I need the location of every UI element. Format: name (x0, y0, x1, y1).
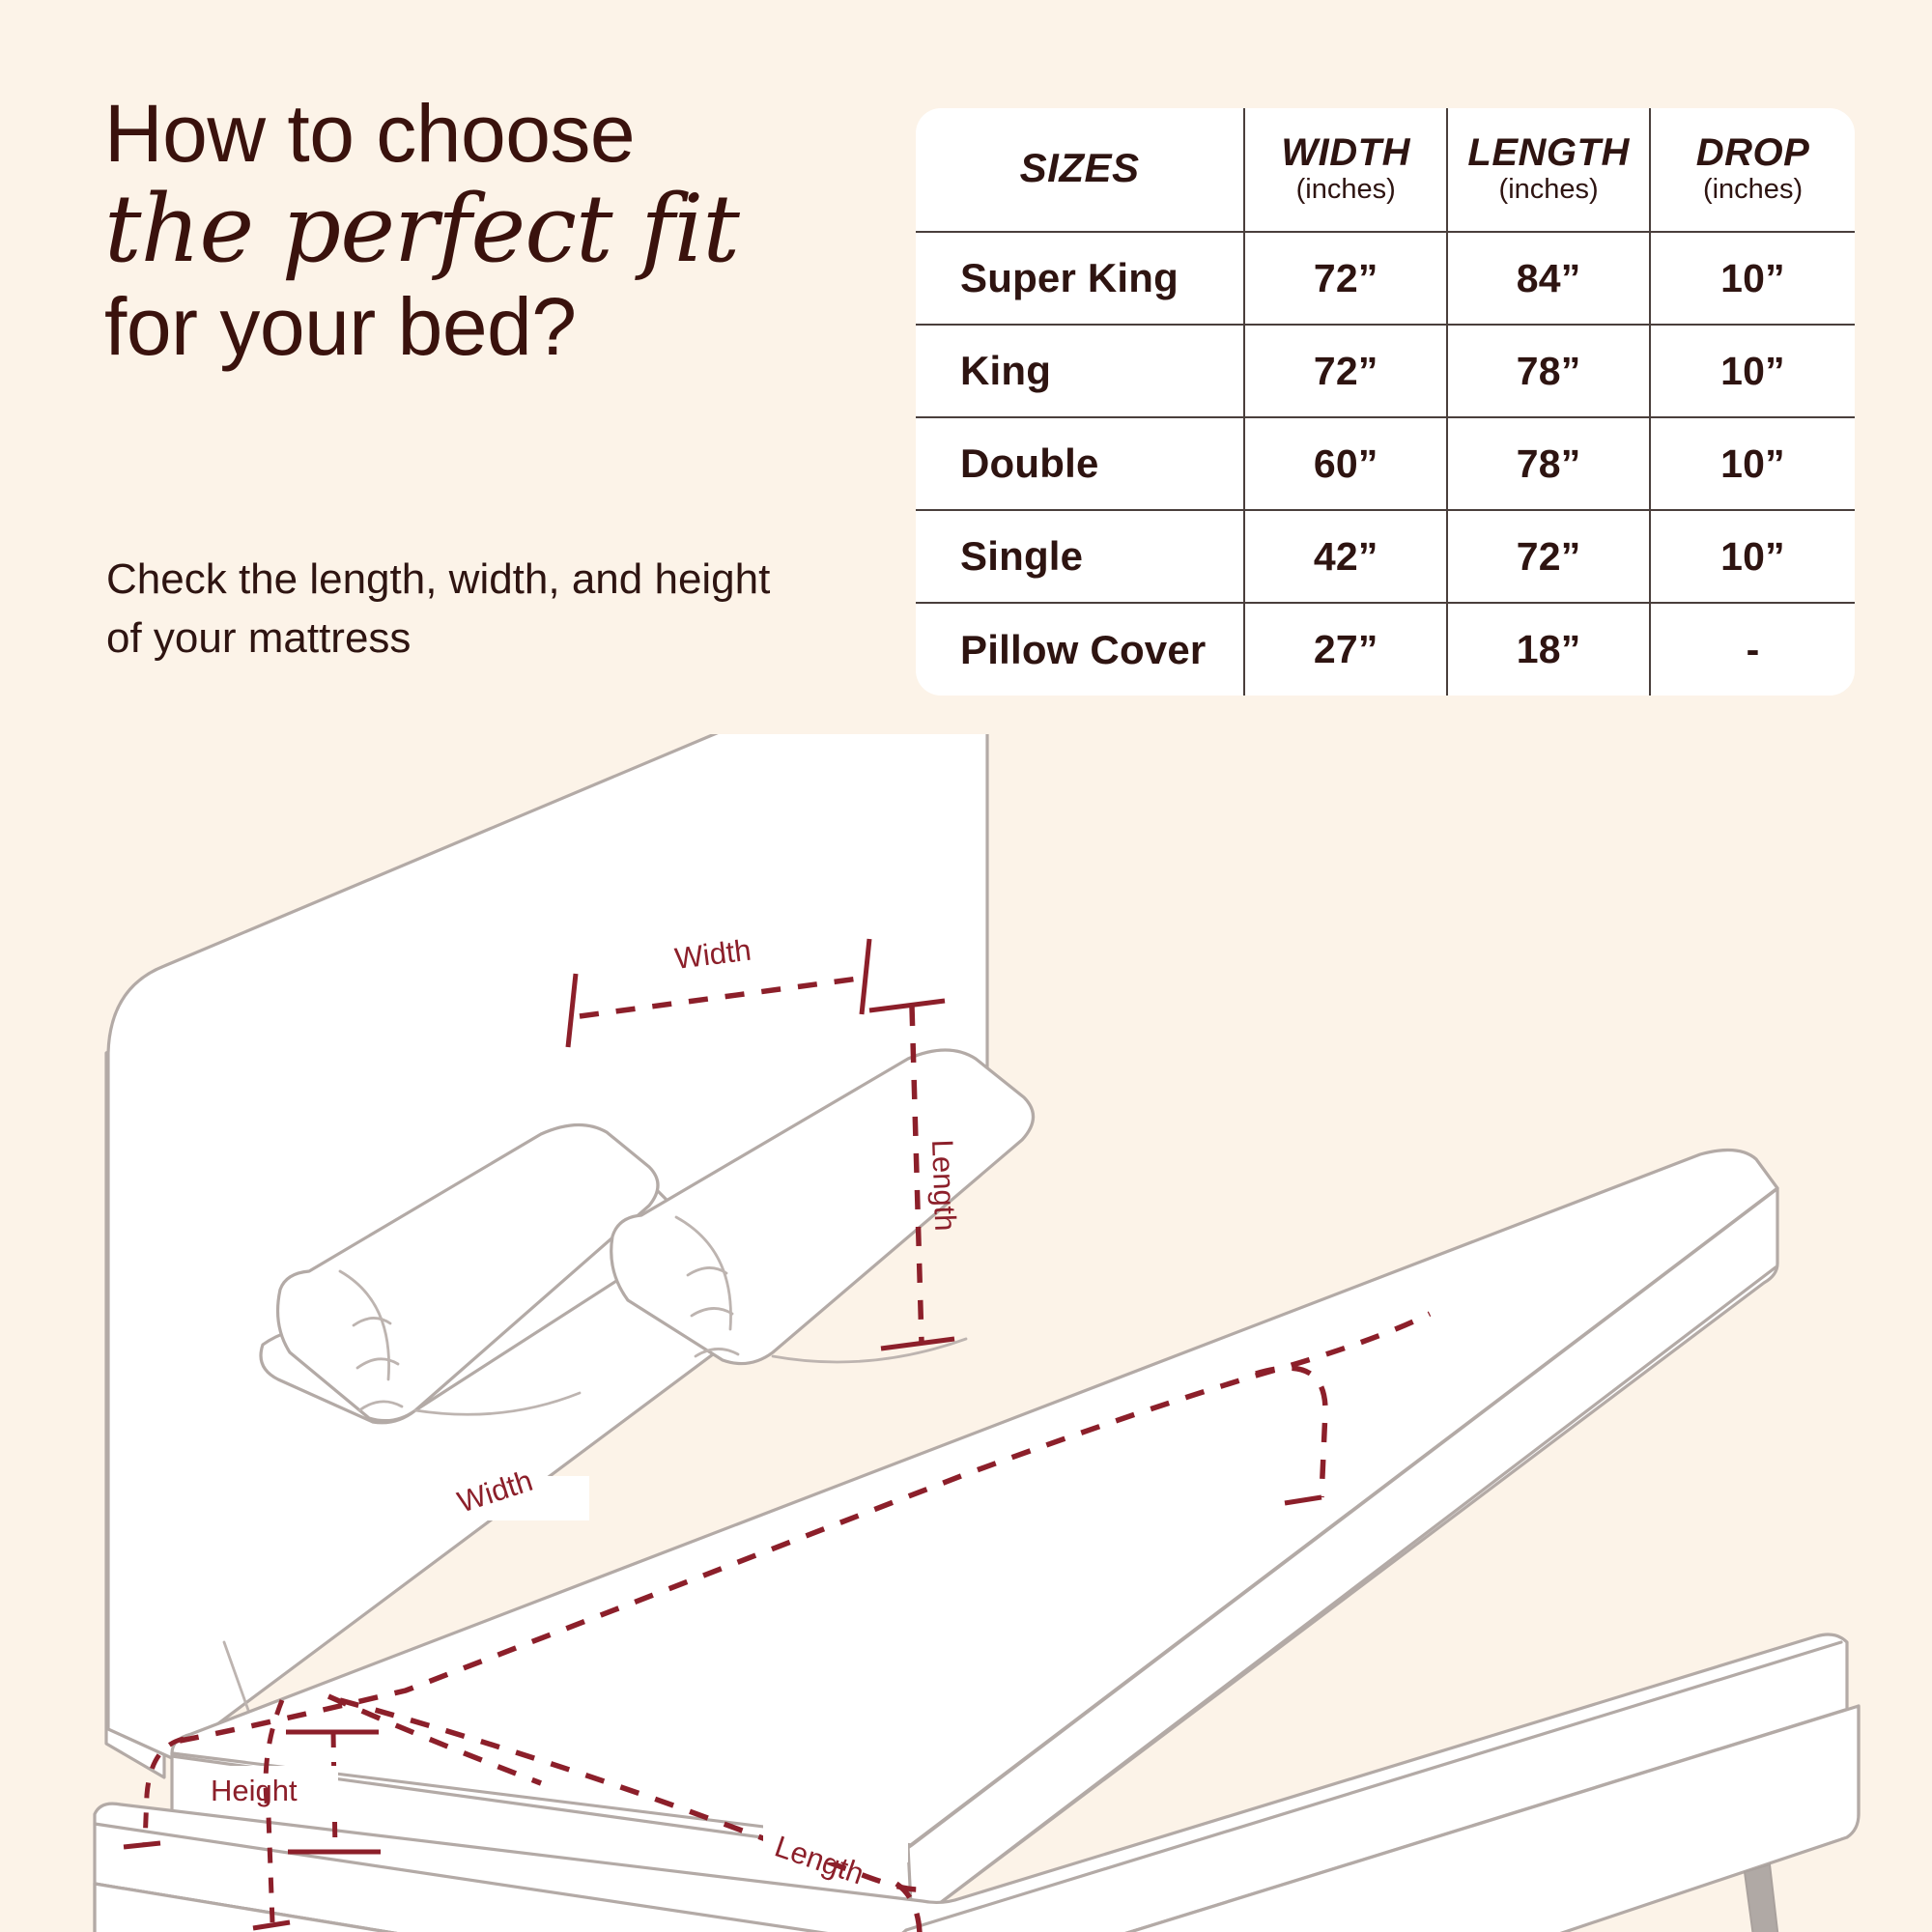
page-subtitle: Check the length, width, and height of y… (106, 551, 782, 668)
column-header-sizes-label: SIZES (922, 147, 1237, 189)
column-header-width-label: WIDTH (1251, 132, 1440, 173)
title-line-1: How to choose (104, 93, 867, 174)
cell-size: King (916, 325, 1244, 417)
page-title: How to choose the perfect fit for your b… (104, 93, 867, 369)
cell-drop: 10” (1650, 325, 1855, 417)
size-guide-page: How to choose the perfect fit for your b… (0, 0, 1932, 1932)
column-header-length-label: LENGTH (1454, 132, 1643, 173)
cell-drop: 10” (1650, 510, 1855, 603)
table-body: Super King 72” 84” 10” King 72” 78” 10” … (916, 232, 1855, 696)
table-header: SIZES WIDTH (inches) LENGTH (inches) DRO… (916, 108, 1855, 232)
column-header-drop-label: DROP (1657, 132, 1849, 173)
column-header-width-unit: (inches) (1251, 175, 1440, 206)
bed-diagram: Width Length Width Width (0, 734, 1932, 1932)
cell-width: 42” (1244, 510, 1447, 603)
column-header-drop: DROP (inches) (1650, 108, 1855, 232)
table-row: Single 42” 72” 10” (916, 510, 1855, 603)
cell-drop: 10” (1650, 417, 1855, 510)
cell-length: 18” (1447, 603, 1650, 696)
column-header-sizes: SIZES (916, 108, 1244, 232)
cell-drop: 10” (1650, 232, 1855, 325)
cell-size: Pillow Cover (916, 603, 1244, 696)
cell-size: Double (916, 417, 1244, 510)
title-line-2-italic: the perfect fit (104, 178, 867, 282)
cell-width: 72” (1244, 325, 1447, 417)
cell-size: Super King (916, 232, 1244, 325)
column-header-length-unit: (inches) (1454, 175, 1643, 206)
cell-length: 84” (1447, 232, 1650, 325)
cell-drop: - (1650, 603, 1855, 696)
table-row: Pillow Cover 27” 18” - (916, 603, 1855, 696)
cell-size: Single (916, 510, 1244, 603)
title-line-3: for your bed? (104, 284, 867, 369)
table-row: Super King 72” 84” 10” (916, 232, 1855, 325)
size-chart-card: SIZES WIDTH (inches) LENGTH (inches) DRO… (916, 108, 1855, 696)
column-header-width: WIDTH (inches) (1244, 108, 1447, 232)
size-chart-table: SIZES WIDTH (inches) LENGTH (inches) DRO… (916, 108, 1855, 696)
column-header-drop-unit: (inches) (1657, 175, 1849, 206)
mattress-height-label: Height (211, 1774, 298, 1807)
table-row: King 72” 78” 10” (916, 325, 1855, 417)
table-header-row: SIZES WIDTH (inches) LENGTH (inches) DRO… (916, 108, 1855, 232)
column-header-length: LENGTH (inches) (1447, 108, 1650, 232)
cell-width: 60” (1244, 417, 1447, 510)
cell-length: 72” (1447, 510, 1650, 603)
table-row: Double 60” 78” 10” (916, 417, 1855, 510)
cell-length: 78” (1447, 325, 1650, 417)
cell-width: 27” (1244, 603, 1447, 696)
pillow-length-label: Length (925, 1139, 962, 1232)
cell-length: 78” (1447, 417, 1650, 510)
cell-width: 72” (1244, 232, 1447, 325)
bed-leg-back-right (1745, 1864, 1783, 1932)
